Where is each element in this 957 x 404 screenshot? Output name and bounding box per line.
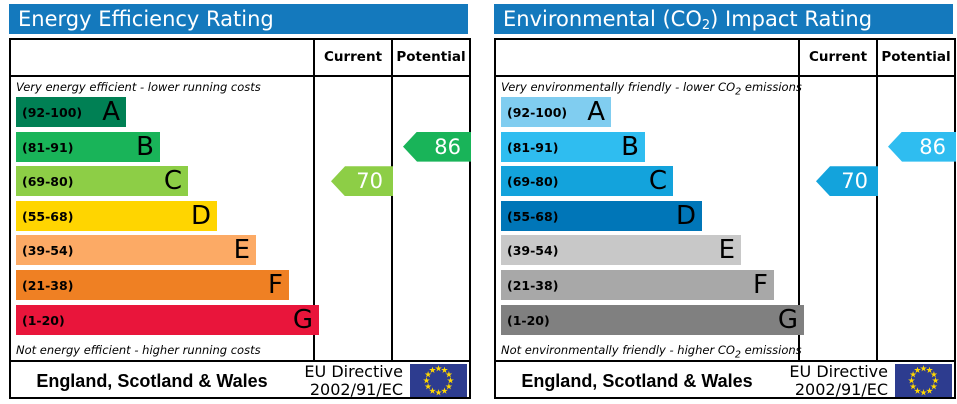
- eu-flag-star: [914, 387, 921, 394]
- band-a: (92-100)A: [16, 97, 126, 127]
- certificate-footer: England, Scotland & WalesEU Directive200…: [496, 362, 954, 399]
- band-letter-b: B: [136, 132, 154, 162]
- band-list: (92-100)A(81-91)B(69-80)C(55-68)D(39-54)…: [501, 97, 798, 340]
- rating-body: Very energy efficient - lower running co…: [11, 77, 469, 362]
- band-range-c: (69-80): [22, 166, 73, 196]
- footer-directive-label: EU Directive2002/91/EC: [778, 363, 892, 399]
- eu-flag-star: [445, 383, 452, 390]
- eu-flag-star: [435, 389, 442, 396]
- column-header-potential: Potential: [878, 40, 954, 75]
- note-bottom-co2-impact: Not environmentally friendly - higher CO…: [501, 343, 797, 360]
- eu-flag-star: [926, 387, 933, 394]
- certificate-footer: England, Scotland & WalesEU Directive200…: [11, 362, 469, 399]
- band-g: (1-20)G: [16, 305, 319, 335]
- eu-flag-icon: [410, 364, 467, 397]
- chart-title-energy-efficiency: Energy Efficiency Rating: [9, 4, 468, 34]
- directive-line-2: 2002/91/EC: [293, 381, 403, 399]
- eu-flag-star: [425, 383, 432, 390]
- table-header-row: CurrentPotential: [11, 40, 469, 77]
- band-range-f: (21-38): [22, 270, 73, 300]
- eu-flag-star: [445, 371, 452, 378]
- current-rating-arrow: 70: [816, 166, 878, 196]
- band-letter-c: C: [649, 166, 667, 196]
- band-letter-a: A: [587, 97, 605, 127]
- band-range-d: (55-68): [507, 201, 558, 231]
- eu-flag-star: [932, 377, 939, 384]
- band-letter-d: D: [191, 201, 211, 231]
- chart-title-co2-impact: Environmental (CO2) Impact Rating: [494, 4, 953, 34]
- eu-flag-star: [926, 367, 933, 374]
- band-range-c: (69-80): [507, 166, 558, 196]
- band-letter-f: F: [753, 270, 768, 300]
- band-range-a: (92-100): [22, 97, 82, 127]
- column-header-potential: Potential: [393, 40, 469, 75]
- band-b: (81-91)B: [16, 132, 160, 162]
- band-c: (69-80)C: [16, 166, 188, 196]
- column-header-current: Current: [315, 40, 391, 75]
- band-letter-e: E: [234, 235, 250, 265]
- footer-country-label: England, Scotland & Wales: [496, 362, 778, 399]
- note-top-co2-impact: Very environmentally friendly - lower CO…: [501, 80, 797, 97]
- band-letter-d: D: [676, 201, 696, 231]
- directive-line-2: 2002/91/EC: [778, 381, 888, 399]
- eu-flag-star: [425, 371, 432, 378]
- band-letter-b: B: [621, 132, 639, 162]
- epc-chart-energy-efficiency: Energy Efficiency RatingCurrentPotential…: [0, 0, 472, 404]
- band-range-d: (55-68): [22, 201, 73, 231]
- band-range-f: (21-38): [507, 270, 558, 300]
- eu-flag-star: [441, 387, 448, 394]
- band-g: (1-20)G: [501, 305, 804, 335]
- band-letter-g: G: [778, 305, 798, 335]
- rating-table-energy-efficiency: CurrentPotentialVery energy efficient - …: [9, 38, 471, 399]
- eu-flag-star: [429, 387, 436, 394]
- eu-flag-star: [920, 365, 927, 372]
- band-letter-g: G: [293, 305, 313, 335]
- band-range-a: (92-100): [507, 97, 567, 127]
- eu-flag-star: [447, 377, 454, 384]
- eu-flag-star: [930, 371, 937, 378]
- band-range-g: (1-20): [22, 305, 65, 335]
- band-d: (55-68)D: [16, 201, 217, 231]
- eu-flag-icon: [895, 364, 952, 397]
- table-header-row: CurrentPotential: [496, 40, 954, 77]
- potential-rating-arrow: 86: [403, 132, 471, 162]
- band-range-g: (1-20): [507, 305, 550, 335]
- band-range-b: (81-91): [507, 132, 558, 162]
- eu-flag-star: [441, 367, 448, 374]
- band-range-e: (39-54): [507, 235, 558, 265]
- band-range-b: (81-91): [22, 132, 73, 162]
- eu-flag-star: [910, 371, 917, 378]
- eu-flag-star: [423, 377, 430, 384]
- band-d: (55-68)D: [501, 201, 702, 231]
- epc-certificate-page: Energy Efficiency RatingCurrentPotential…: [0, 0, 957, 404]
- band-letter-f: F: [268, 270, 283, 300]
- eu-flag-star: [435, 365, 442, 372]
- band-e: (39-54)E: [501, 235, 741, 265]
- band-letter-a: A: [102, 97, 120, 127]
- column-header-current: Current: [800, 40, 876, 75]
- note-bottom-energy-efficiency: Not energy efficient - higher running co…: [16, 343, 312, 357]
- eu-flag-star: [930, 383, 937, 390]
- eu-flag-star: [914, 367, 921, 374]
- band-list: (92-100)A(81-91)B(69-80)C(55-68)D(39-54)…: [16, 97, 313, 340]
- band-letter-c: C: [164, 166, 182, 196]
- band-letter-e: E: [719, 235, 735, 265]
- directive-line-1: EU Directive: [293, 363, 403, 381]
- band-f: (21-38)F: [16, 270, 289, 300]
- current-rating-arrow: 70: [331, 166, 393, 196]
- directive-line-1: EU Directive: [778, 363, 888, 381]
- band-b: (81-91)B: [501, 132, 645, 162]
- footer-directive-label: EU Directive2002/91/EC: [293, 363, 407, 399]
- band-range-e: (39-54): [22, 235, 73, 265]
- rating-table-co2-impact: CurrentPotentialVery environmentally fri…: [494, 38, 956, 399]
- eu-flag-star: [920, 389, 927, 396]
- eu-flag-star: [429, 367, 436, 374]
- note-top-energy-efficiency: Very energy efficient - lower running co…: [16, 80, 312, 94]
- epc-chart-co2-impact: Environmental (CO2) Impact RatingCurrent…: [485, 0, 957, 404]
- band-e: (39-54)E: [16, 235, 256, 265]
- band-c: (69-80)C: [501, 166, 673, 196]
- potential-rating-arrow: 86: [888, 132, 956, 162]
- eu-flag-star: [910, 383, 917, 390]
- rating-body: Very environmentally friendly - lower CO…: [496, 77, 954, 362]
- band-f: (21-38)F: [501, 270, 774, 300]
- eu-flag-star: [908, 377, 915, 384]
- footer-country-label: England, Scotland & Wales: [11, 362, 293, 399]
- band-a: (92-100)A: [501, 97, 611, 127]
